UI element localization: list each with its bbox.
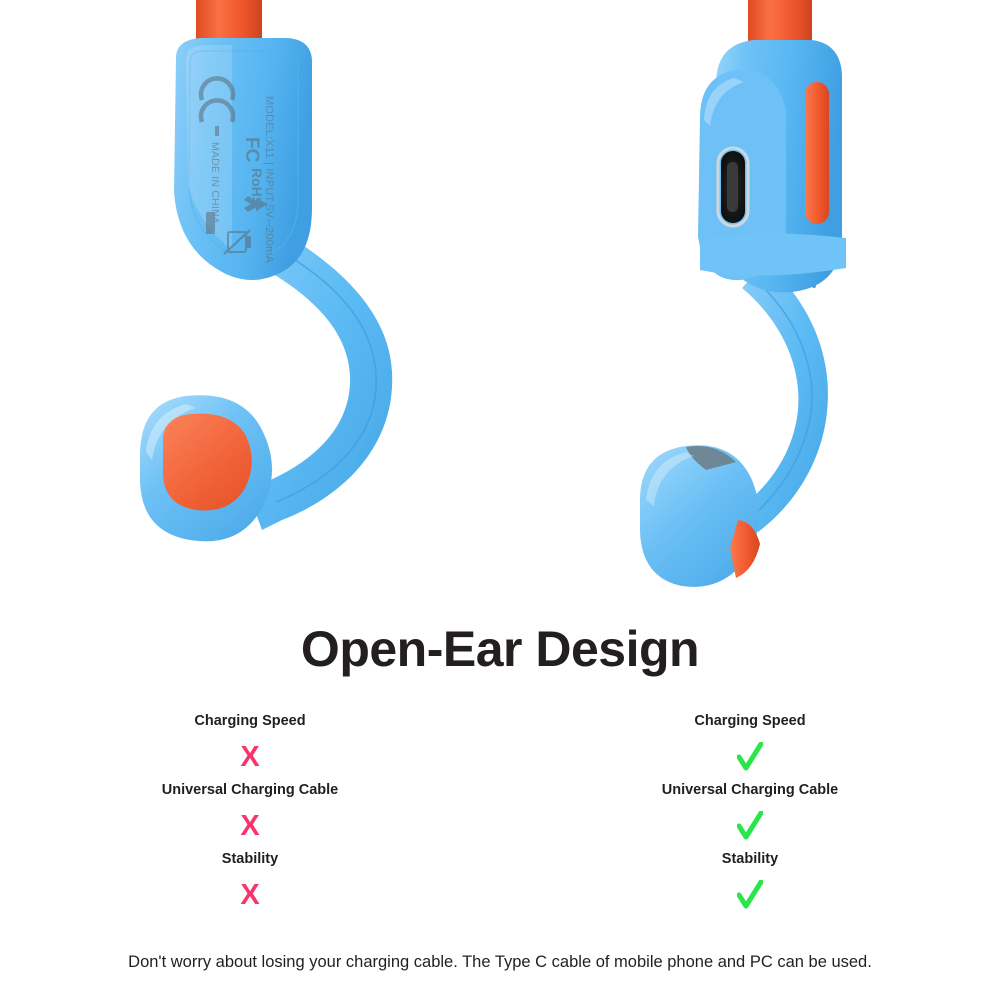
check-icon [500,869,1000,921]
product-image-area: MODEL:X11 | INPUT:5V⎓200mA MADE IN CHINA… [0,0,1000,615]
check-icon [500,731,1000,783]
feature-row: Stability X [0,852,500,921]
usb-c-port-tongue [727,162,738,212]
footer-caption: Don't worry about losing your charging c… [0,953,1000,973]
product-feature-page: MODEL:X11 | INPUT:5V⎓200mA MADE IN CHINA… [0,0,1000,1000]
microphone-hole-icon [812,284,816,288]
svg-text:FC: FC [241,137,262,163]
ear-pad-right [640,445,760,587]
usb-c-port[interactable] [718,148,748,226]
feature-label: Universal Charging Cable [500,783,1000,800]
ear-pad-orange [163,414,252,511]
comparison-column-without-product: Charging Speed X Universal Charging Cabl… [0,714,500,914]
feature-label: Stability [500,852,1000,869]
page-title: Open-Ear Design [0,624,1000,674]
comparison-column-with-product: Charging Speed Universal Charging Cable … [500,714,1000,914]
feature-row: Charging Speed [500,714,1000,783]
ear-pad-left [140,395,272,541]
cross-icon: X [0,731,500,783]
marking-origin-line: MADE IN CHINA [209,142,221,224]
module-base-band [700,233,846,275]
feature-label: Stability [0,852,500,869]
product-illustration: MODEL:X11 | INPUT:5V⎓200mA MADE IN CHINA… [0,0,1000,615]
feature-row: Universal Charging Cable [500,783,1000,852]
cross-icon: X [0,869,500,921]
left-earphone-front-view: MODEL:X11 | INPUT:5V⎓200mA MADE IN CHINA… [140,0,392,541]
feature-row: Universal Charging Cable X [0,783,500,852]
comparison-table: Charging Speed X Universal Charging Cabl… [0,714,1000,914]
cross-icon: X [0,800,500,852]
feature-label: Charging Speed [0,714,500,731]
orange-button-strip[interactable] [805,82,829,224]
right-earphone-angled-view [640,0,846,587]
feature-label: Charging Speed [500,714,1000,731]
feature-label: Universal Charging Cable [0,783,500,800]
fcc-mark-icon: FC [241,137,262,163]
marking-bar [206,212,215,234]
feature-row: Stability [500,852,1000,921]
check-icon [500,800,1000,852]
feature-row: Charging Speed X [0,714,500,783]
